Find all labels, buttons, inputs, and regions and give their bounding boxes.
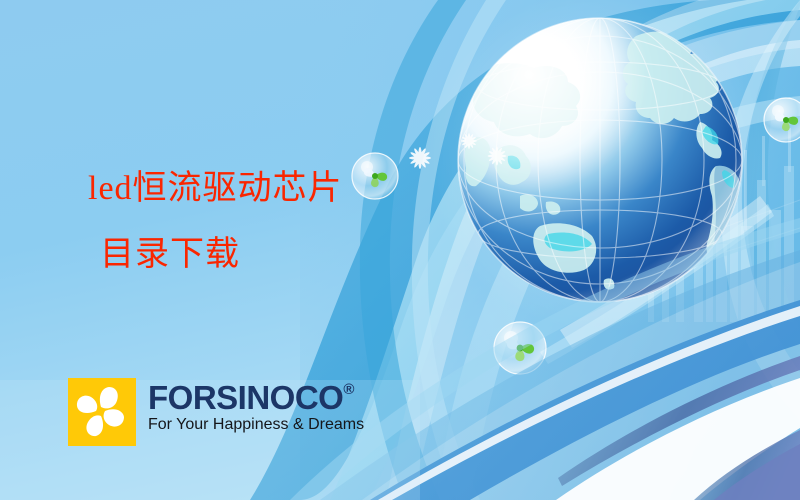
logo-tagline: For Your Happiness & Dreams (148, 416, 364, 434)
logo-text-block: FORSINOCO ® For Your Happiness & Dreams (148, 378, 364, 434)
banner-image: led恒流驱动芯片 目录下载 FORSINOCO ® For Your Happ… (0, 0, 800, 500)
logo-wordmark: FORSINOCO ® (148, 381, 364, 414)
company-logo: FORSINOCO ® For Your Happiness & Dreams (68, 378, 364, 446)
logo-mark (68, 378, 136, 446)
logo-company-name: FORSINOCO (148, 381, 343, 414)
pinwheel-flower-icon (68, 378, 136, 446)
registered-trademark-icon: ® (343, 382, 354, 397)
